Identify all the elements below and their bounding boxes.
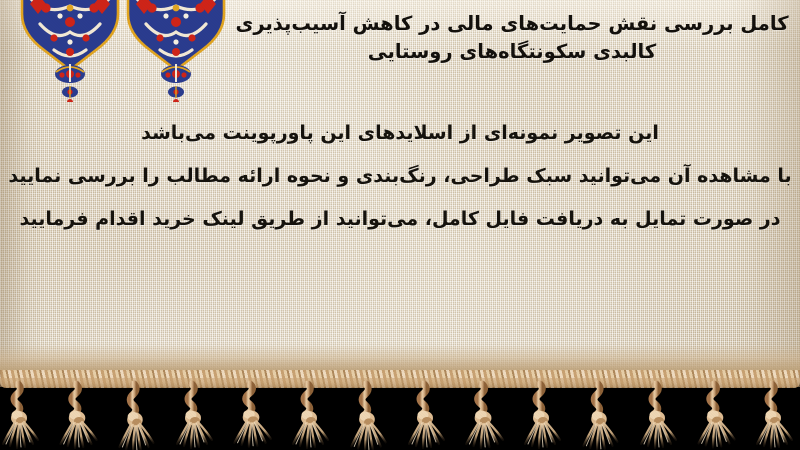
slide-title-line-2: کالبدی سکونتگاه‌های روستایی [232,38,792,66]
carpet-tassel-row [0,378,800,450]
slide-body-line-1: این تصویر نمونه‌ای از اسلایدهای این پاور… [0,112,800,155]
slide-title: کامل بررسی نقش حمایت‌های مالی در کاهش آس… [232,10,792,66]
slide-body-text: این تصویر نمونه‌ای از اسلایدهای این پاور… [0,112,800,241]
slide-title-line-1: کامل بررسی نقش حمایت‌های مالی در کاهش آس… [232,10,792,38]
carpet-tassel-fringe-band [0,370,800,450]
slide-body-line-2: با مشاهده آن می‌توانید سبک طراحی، رنگ‌بن… [0,155,800,198]
slide-body-line-3: در صورت تمایل به دریافت فایل کامل، می‌تو… [0,198,800,241]
slide-canvas: کامل بررسی نقش حمایت‌های مالی در کاهش آس… [0,0,800,450]
